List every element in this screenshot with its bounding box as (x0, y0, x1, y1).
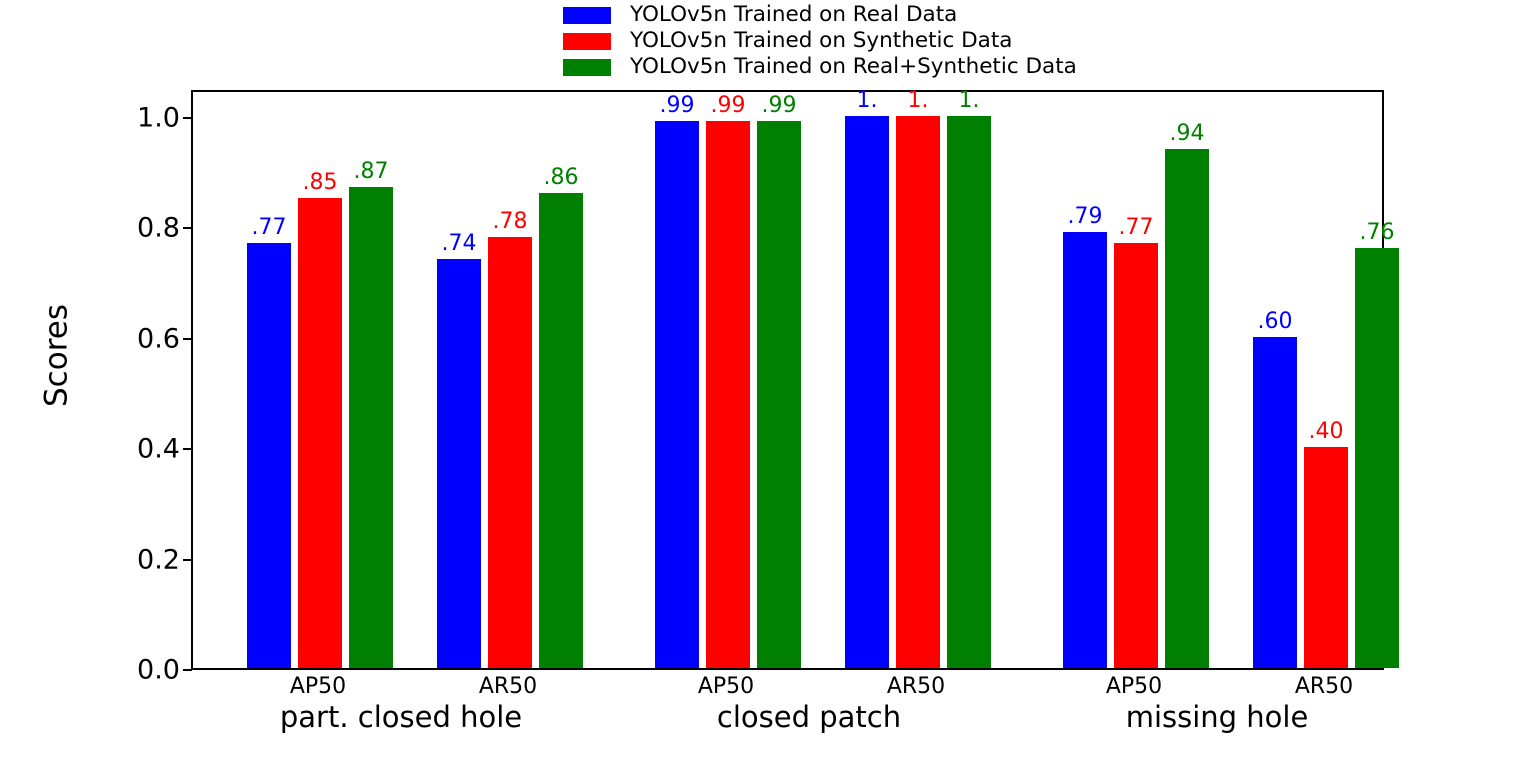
y-axis-tick-marks (0, 90, 200, 670)
x-group-label: part. closed hole (280, 703, 522, 732)
bar-value-label: .94 (1155, 123, 1219, 145)
bar (706, 121, 750, 668)
bar (757, 121, 801, 668)
bar (539, 193, 583, 668)
legend-label-real-synthetic: YOLOv5n Trained on Real+Synthetic Data (630, 56, 1077, 78)
legend-swatch-green (563, 59, 611, 76)
bar (298, 198, 342, 668)
bar-value-label: .77 (1104, 217, 1168, 239)
x-tick-label: AP50 (290, 676, 346, 698)
x-tick-label: AR50 (1295, 676, 1353, 698)
bar (1063, 232, 1107, 668)
bar-value-label: 1. (937, 90, 1001, 112)
bar (1304, 447, 1348, 668)
legend-entry-real: YOLOv5n Trained on Real Data (563, 3, 957, 27)
x-tick-label: AR50 (479, 676, 537, 698)
x-tick-label: AR50 (887, 676, 945, 698)
bar (845, 116, 889, 668)
legend-swatch-blue (563, 7, 611, 24)
bar (1165, 149, 1209, 668)
legend-entry-synthetic: YOLOv5n Trained on Synthetic Data (563, 29, 1012, 53)
bar (1114, 243, 1158, 668)
bar-value-label: .40 (1294, 421, 1358, 443)
x-tick-label: AP50 (698, 676, 754, 698)
bar-value-label: .77 (237, 217, 301, 239)
legend-entry-real-synthetic: YOLOv5n Trained on Real+Synthetic Data (563, 55, 1077, 79)
bar (655, 121, 699, 668)
bar (1253, 337, 1297, 668)
bar-value-label: .86 (529, 167, 593, 189)
bar-value-label: .87 (339, 161, 403, 183)
bar-value-label: .74 (427, 233, 491, 255)
chart-legend: YOLOv5n Trained on Real Data YOLOv5n Tra… (0, 0, 1536, 80)
plot-area: .77.85.87.74.78.86.99.99.991.1.1..79.77.… (191, 90, 1384, 670)
bar (247, 243, 291, 668)
bar-value-label: .60 (1243, 311, 1307, 333)
legend-label-synthetic: YOLOv5n Trained on Synthetic Data (630, 30, 1012, 52)
legend-label-real: YOLOv5n Trained on Real Data (630, 4, 957, 26)
legend-swatch-red (563, 33, 611, 50)
bar (349, 187, 393, 668)
x-axis-group-labels: part. closed holeclosed patchmissing hol… (191, 703, 1384, 753)
x-group-label: missing hole (1126, 703, 1309, 732)
bar (437, 259, 481, 668)
x-tick-label: AP50 (1106, 676, 1162, 698)
bar (947, 116, 991, 668)
bar-value-label: .76 (1345, 222, 1409, 244)
x-group-label: closed patch (717, 703, 901, 732)
bar (896, 116, 940, 668)
bar (488, 237, 532, 668)
bar-value-label: .99 (747, 95, 811, 117)
bar-value-label: .78 (478, 211, 542, 233)
bar (1355, 248, 1399, 668)
bars-layer: .77.85.87.74.78.86.99.99.991.1.1..79.77.… (193, 92, 1382, 668)
